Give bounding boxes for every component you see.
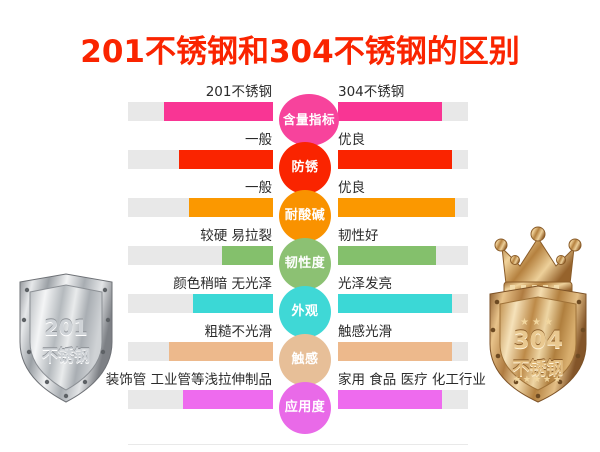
row-bar-line: 防锈 xyxy=(0,150,600,170)
metric-badge[interactable]: 外观 xyxy=(279,286,331,338)
bottom-divider xyxy=(128,444,468,445)
bar-fill-right xyxy=(338,150,452,169)
bar-fill-right xyxy=(338,198,455,217)
comparison-row: 201不锈钢304不锈钢含量指标 xyxy=(0,82,600,130)
metric-badge[interactable]: 韧性度 xyxy=(279,238,331,290)
bar-track-right xyxy=(338,150,468,169)
row-left-label: 粗糙不光滑 xyxy=(205,322,273,342)
bar-fill-right xyxy=(338,294,452,313)
shield-gold-crown-icon xyxy=(482,222,594,404)
bar-track-left xyxy=(128,198,273,217)
bar-fill-left xyxy=(169,342,273,361)
bar-track-left xyxy=(128,246,273,265)
bar-track-right xyxy=(338,198,468,217)
row-right-label: 304不锈钢 xyxy=(338,82,404,102)
bar-fill-right xyxy=(338,102,442,121)
row-right-label: 光泽发亮 xyxy=(338,274,392,294)
row-bar-line: 耐酸碱 xyxy=(0,198,600,218)
bar-track-right xyxy=(338,342,468,361)
bar-fill-left xyxy=(183,390,273,409)
row-left-label: 201不锈钢 xyxy=(206,82,272,102)
page-title: 201不锈钢和304不锈钢的区别 xyxy=(0,26,600,71)
bar-fill-left xyxy=(222,246,273,265)
metric-badge[interactable]: 耐酸碱 xyxy=(279,190,331,242)
bar-fill-right xyxy=(338,342,452,361)
metric-badge[interactable]: 应用度 xyxy=(279,382,331,434)
bar-track-right xyxy=(338,246,468,265)
bar-fill-left xyxy=(164,102,273,121)
metric-badge[interactable]: 含量指标 xyxy=(279,94,339,146)
bar-track-right xyxy=(338,102,468,121)
row-right-label: 家用 食品 医疗 化工行业 xyxy=(338,370,486,390)
row-bar-line: 含量指标 xyxy=(0,102,600,122)
row-right-label: 韧性好 xyxy=(338,226,379,246)
bar-track-right xyxy=(338,294,468,313)
row-right-label: 优良 xyxy=(338,130,365,150)
bar-fill-left xyxy=(179,150,273,169)
bar-track-left xyxy=(128,150,273,169)
row-left-label: 颜色稍暗 无光泽 xyxy=(173,274,272,294)
bar-track-right xyxy=(338,390,468,409)
shield-201-silver: 201 不锈钢 xyxy=(14,272,118,404)
shield-silver-icon xyxy=(14,272,118,404)
bar-track-left xyxy=(128,390,273,409)
shield-304-gold: ★★★ 304 不锈钢 ★★★★★ xyxy=(482,222,594,404)
row-left-label: 较硬 易拉裂 xyxy=(200,226,272,246)
row-left-label: 装饰管 工业管等浅拉伸制品 xyxy=(106,370,272,390)
metric-badge[interactable]: 防锈 xyxy=(279,142,331,194)
bar-track-left xyxy=(128,102,273,121)
bar-fill-left xyxy=(189,198,273,217)
bar-fill-right xyxy=(338,390,442,409)
row-right-label: 触感光滑 xyxy=(338,322,392,342)
row-right-label: 优良 xyxy=(338,178,365,198)
bar-track-left xyxy=(128,294,273,313)
row-left-label: 一般 xyxy=(245,130,272,150)
bar-track-left xyxy=(128,342,273,361)
infographic-root: 201不锈钢和304不锈钢的区别 201不锈钢304不锈钢含量指标一般优良防锈一… xyxy=(0,0,600,452)
metric-badge[interactable]: 触感 xyxy=(279,334,331,386)
row-left-label: 一般 xyxy=(245,178,272,198)
bar-fill-left xyxy=(193,294,273,313)
bar-fill-right xyxy=(338,246,436,265)
